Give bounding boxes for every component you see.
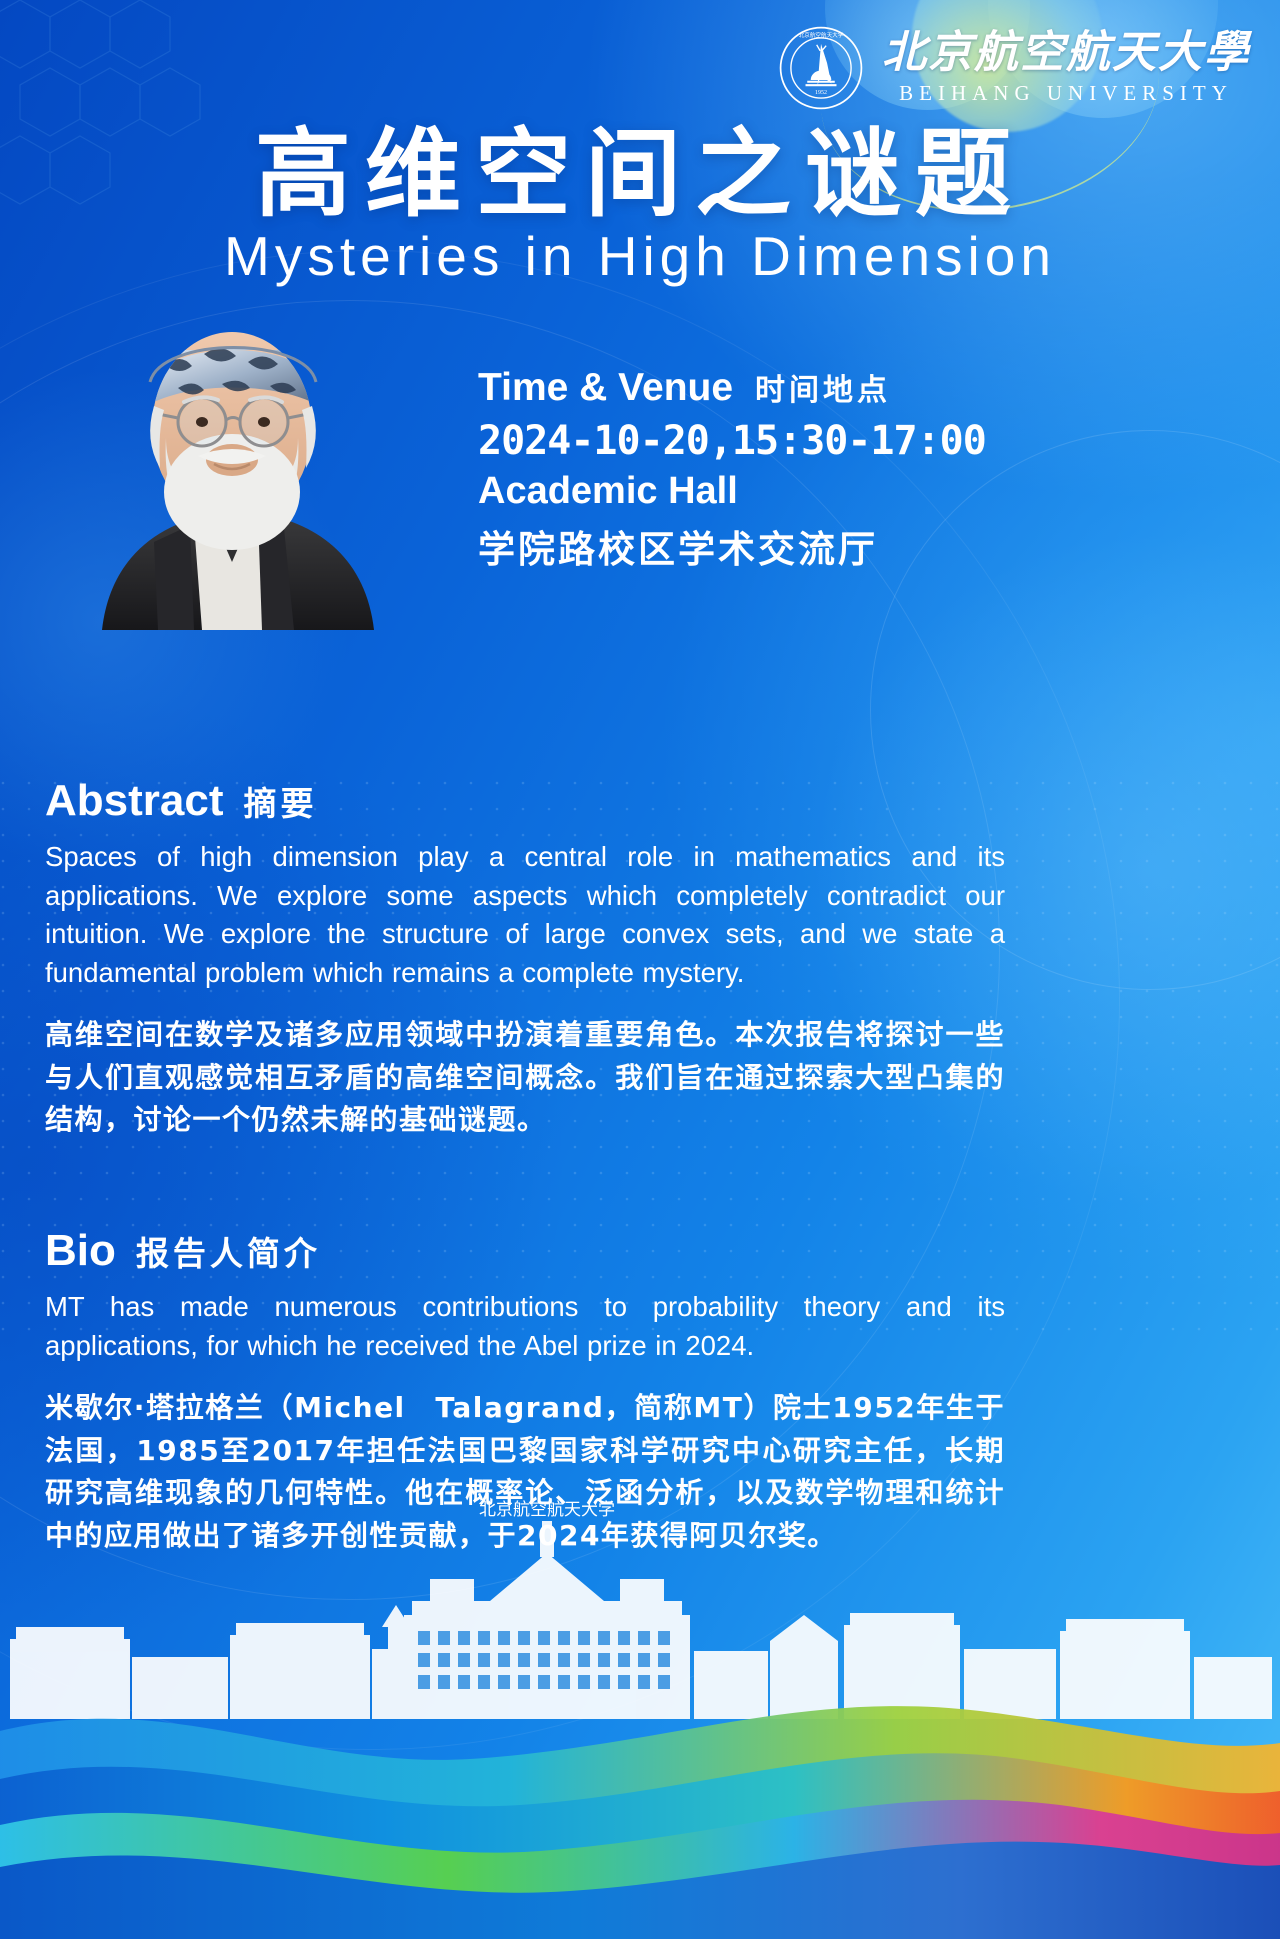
svg-text:北京航空航天大学: 北京航空航天大学 (799, 31, 844, 39)
bio-heading-cn: 报告人简介 (136, 1227, 321, 1275)
university-name: 北京航空航天大學 BEIHANG UNIVERSITY (882, 30, 1250, 105)
abstract-body-en: Spaces of high dimension play a central … (45, 838, 1005, 992)
svg-text:1952: 1952 (815, 90, 827, 96)
time-venue-heading-en: Time & Venue (478, 366, 733, 410)
bio-body-en: MT has made numerous contributions to pr… (45, 1288, 1005, 1365)
bio-heading: Bio 报告人简介 (45, 1226, 1005, 1276)
time-venue-heading-cn: 时间地点 (755, 365, 891, 409)
poster-title-cn: 高维空间之谜题 (0, 124, 1280, 225)
event-datetime: 2024-10-20,15:30-17:00 (478, 418, 986, 464)
poster-header: 1952 北京航空航天大学 北京航空航天大學 BEIHANG UNIVERSIT… (0, 18, 1280, 118)
speaker-portrait (62, 310, 517, 630)
bio-body-cn: 米歇尔·塔拉格兰（Michel Talagrand，简称MT）院士1952年生于… (45, 1387, 1005, 1557)
abstract-body-cn: 高维空间在数学及诸多应用领域中扮演着重要角色。本次报告将探讨一些与人们直观感觉相… (45, 1014, 1005, 1142)
abstract-heading-en: Abstract (45, 776, 224, 826)
university-name-cn: 北京航空航天大學 (882, 30, 1250, 76)
abstract-heading-cn: 摘要 (244, 777, 318, 825)
beihang-seal-icon: 1952 北京航空航天大学 (778, 25, 864, 111)
abstract-heading: Abstract 摘要 (45, 776, 1005, 826)
event-venue-cn: 学院路校区学术交流厅 (478, 519, 986, 573)
poster-title-en: Mysteries in High Dimension (0, 226, 1280, 287)
time-venue-heading: Time & Venue 时间地点 (478, 365, 986, 410)
abstract-section: Abstract 摘要 Spaces of high dimension pla… (45, 776, 1005, 1142)
event-venue-en: Academic Hall (478, 470, 986, 513)
time-venue-block: Time & Venue 时间地点 2024-10-20,15:30-17:00… (478, 365, 986, 573)
bio-heading-en: Bio (45, 1226, 116, 1276)
bio-section: Bio 报告人简介 MT has made numerous contribut… (45, 1226, 1005, 1557)
poster-root: 1952 北京航空航天大学 北京航空航天大學 BEIHANG UNIVERSIT… (0, 0, 1280, 1939)
university-name-en: BEIHANG UNIVERSITY (899, 81, 1233, 106)
